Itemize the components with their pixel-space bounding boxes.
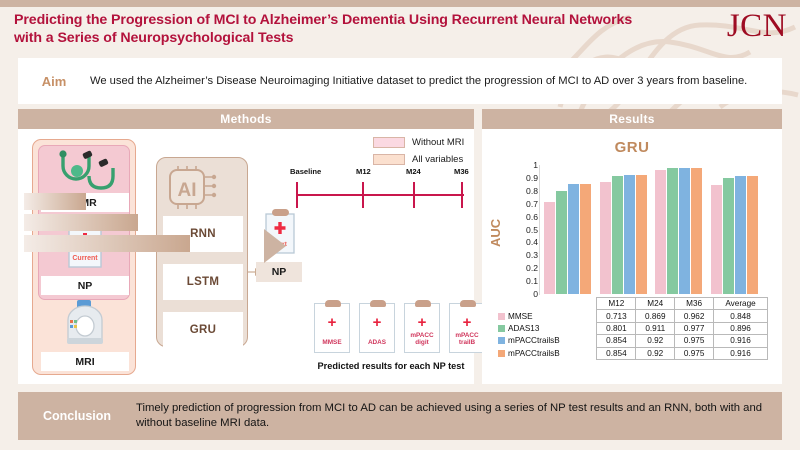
methods-banner: Methods — [18, 109, 474, 129]
bar — [679, 168, 690, 294]
table-col-header: M12 — [597, 298, 636, 310]
bar — [691, 168, 702, 294]
table-cell: 0.92 — [636, 335, 675, 347]
bar-group-m24 — [596, 165, 652, 294]
aim-section: Aim We used the Alzheimer’s Disease Neur… — [18, 58, 782, 104]
table-col-header: Average — [714, 298, 768, 310]
y-tick-label: 0.2 — [526, 263, 538, 273]
np-output-label: NP — [256, 262, 302, 282]
y-tick-label: 0.4 — [526, 237, 538, 247]
plus-icon: + — [315, 315, 349, 330]
legend-label-all-variables: All variables — [412, 154, 463, 165]
bar — [612, 176, 623, 294]
clipboard-clip-icon — [415, 300, 431, 307]
mri-label: MRI — [41, 352, 129, 371]
table-cell: 0.801 — [597, 322, 636, 334]
bar — [544, 202, 555, 294]
top-decorative-band — [0, 0, 800, 7]
table-header-row: M12M24M36Average — [496, 298, 768, 310]
plus-icon: + — [405, 315, 439, 330]
table-row: ADAS130.8010.9110.9770.896 — [496, 322, 768, 334]
table-cell: 0.848 — [714, 310, 768, 322]
y-tick-label: 0.1 — [526, 276, 538, 286]
bar — [711, 185, 722, 294]
legend-item-all-variables: All variables — [373, 152, 464, 166]
bar — [735, 176, 746, 294]
np-card-label: ADAS — [368, 339, 386, 347]
series-color-swatch — [498, 313, 505, 320]
table-cell: 0.713 — [597, 310, 636, 322]
results-panel: GRU AUC 00.10.20.30.40.50.60.70.80.91 M1… — [482, 129, 782, 384]
clipboard-clip-icon — [370, 300, 386, 307]
table-cell: 0.975 — [675, 347, 714, 359]
bar — [655, 170, 666, 294]
ai-chip-icon: AI — [167, 166, 221, 210]
np-card-adas: + ADAS — [359, 303, 395, 353]
y-tick-label: 1 — [533, 160, 538, 170]
page-title: Predicting the Progression of MCI to Alz… — [14, 11, 654, 47]
table-cell: 0.854 — [597, 335, 636, 347]
y-tick-label: 0.8 — [526, 186, 538, 196]
table-cell: 0.916 — [714, 347, 768, 359]
aim-label: Aim — [18, 74, 90, 89]
y-tick-label: 0.6 — [526, 212, 538, 222]
bar-chart-plot-area — [540, 165, 762, 294]
np-card-label: mPACC trailB — [450, 332, 484, 347]
np-card-mmse: + MMSE — [314, 303, 350, 353]
legend-item-without-mri: Without MRI — [373, 135, 464, 149]
table-cell: 0.962 — [675, 310, 714, 322]
table-row-header: mPACCtrailsB — [496, 335, 597, 347]
timeline-axis — [290, 179, 468, 211]
bar — [723, 178, 734, 294]
np-card-label: mPACC digit — [405, 332, 439, 347]
aim-text: We used the Alzheimer’s Disease Neuroima… — [90, 74, 761, 89]
bar — [568, 184, 579, 294]
bar-group-m12 — [540, 165, 596, 294]
table-cell: 0.896 — [714, 322, 768, 334]
table-cell: 0.92 — [636, 347, 675, 359]
table-cell: 0.977 — [675, 322, 714, 334]
y-tick-label: 0.3 — [526, 250, 538, 260]
bar — [580, 184, 591, 294]
plus-icon: + — [450, 315, 484, 330]
methods-panel: EMR Current NP — [18, 129, 474, 384]
stethoscope-icon — [55, 150, 117, 197]
chart-y-axis-title: AUC — [488, 219, 503, 247]
prediction-bar-3 — [24, 235, 190, 252]
legend-swatch-without-mri — [373, 137, 405, 148]
model-lstm: LSTM — [163, 264, 243, 300]
series-color-swatch — [498, 325, 505, 332]
prediction-timeline: Baseline M12 M24 M36 — [290, 167, 468, 219]
timeline-tick-m36: M36 — [454, 167, 469, 176]
bar — [636, 175, 647, 294]
np-card-label: MMSE — [322, 339, 341, 347]
timeline-tick-m24: M24 — [406, 167, 421, 176]
bar — [556, 191, 567, 294]
table-corner-cell — [496, 298, 597, 310]
model-gru: GRU — [163, 312, 243, 348]
graphical-abstract-page: Predicting the Progression of MCI to Alz… — [0, 0, 800, 450]
table-row-header: mPACCtrailsB — [496, 347, 597, 359]
model-column: AI RNN LSTM GRU — [156, 157, 248, 347]
np-label: NP — [41, 276, 129, 295]
prediction-bar-1 — [24, 193, 86, 210]
legend-swatch-all-variables — [373, 154, 405, 165]
y-tick-label: 0.5 — [526, 225, 538, 235]
mri-scanner-icon — [61, 300, 109, 351]
np-test-cards: + MMSE + ADAS + mPACC digit + mPACC trai… — [314, 303, 485, 353]
bar — [624, 175, 635, 294]
table-row: MMSE0.7130.8690.9620.848 — [496, 310, 768, 322]
table-cell: 0.916 — [714, 335, 768, 347]
table-row: mPACCtrailsB0.8540.920.9750.916 — [496, 335, 768, 347]
bar — [667, 168, 678, 294]
table-row: mPACCtrailsB0.8540.920.9750.916 — [496, 347, 768, 359]
table-row-header: ADAS13 — [496, 322, 597, 334]
methods-legend: Without MRI All variables — [373, 135, 464, 169]
table-col-header: M24 — [636, 298, 675, 310]
table-cell: 0.854 — [597, 347, 636, 359]
bar — [600, 182, 611, 294]
journal-logo: JCN — [727, 10, 787, 43]
y-tick-label: 0.9 — [526, 173, 538, 183]
legend-label-without-mri: Without MRI — [412, 137, 464, 148]
bar — [747, 176, 758, 294]
prediction-bar-2 — [24, 214, 138, 231]
table-col-header: M36 — [675, 298, 714, 310]
np-cards-caption: Predicted results for each NP test — [306, 361, 476, 371]
plus-icon: + — [360, 315, 394, 330]
results-data-table: M12M24M36Average MMSE0.7130.8690.9620.84… — [496, 297, 768, 360]
clipboard-clip-icon — [460, 300, 476, 307]
header: Predicting the Progression of MCI to Alz… — [0, 7, 800, 55]
conclusion-section: Conclusion Timely prediction of progress… — [18, 392, 782, 440]
y-tick-label: 0.7 — [526, 199, 538, 209]
table-cell: 0.975 — [675, 335, 714, 347]
svg-text:Current: Current — [72, 255, 98, 262]
chart-y-axis-ticks: 00.10.20.30.40.50.60.70.80.91 — [512, 160, 538, 299]
results-banner: Results — [482, 109, 782, 129]
timeline-tick-m12: M12 — [356, 167, 371, 176]
np-card-mpacc-trailb: + mPACC trailB — [449, 303, 485, 353]
flow-arrow-to-results — [264, 229, 286, 263]
clipboard-clip-icon — [325, 300, 341, 307]
np-card-mpacc-digit: + mPACC digit — [404, 303, 440, 353]
series-color-swatch — [498, 350, 505, 357]
chart-title: GRU — [482, 139, 782, 156]
input-data-column: EMR Current NP — [32, 139, 136, 375]
conclusion-text: Timely prediction of progression from MC… — [136, 401, 782, 432]
conclusion-label: Conclusion — [18, 409, 136, 423]
bar-group-m36 — [651, 165, 707, 294]
timeline-tick-baseline: Baseline — [290, 167, 321, 176]
table-cell: 0.911 — [636, 322, 675, 334]
bar-group-average — [707, 165, 763, 294]
table-cell: 0.869 — [636, 310, 675, 322]
svg-text:AI: AI — [178, 180, 197, 201]
series-color-swatch — [498, 337, 505, 344]
table-row-header: MMSE — [496, 310, 597, 322]
